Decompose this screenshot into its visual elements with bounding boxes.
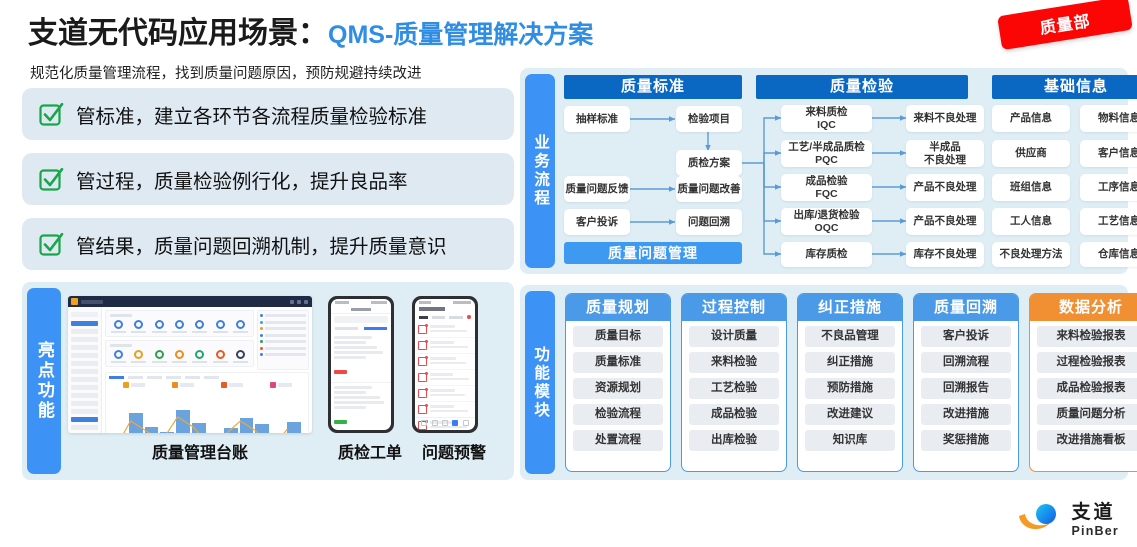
- module-item[interactable]: 质量问题分析: [1037, 404, 1137, 425]
- basic-worker-info[interactable]: 工人信息: [992, 208, 1070, 235]
- mock-chart: [105, 372, 309, 433]
- handle-node-stock[interactable]: 库存不良处理: [906, 242, 984, 267]
- mock-titlebar: [68, 296, 312, 307]
- node-issue-trace[interactable]: 问题回溯: [676, 209, 742, 235]
- column-header-basic: 基础信息: [992, 75, 1137, 99]
- insp-node-stock-name: 库存质检: [806, 248, 848, 261]
- module-item[interactable]: 知识库: [805, 430, 895, 451]
- insp-node-oqc-name: 出库/退货检验: [794, 209, 860, 222]
- brand-logo: 支道 PinBer: [1017, 502, 1120, 539]
- basic-craft-info[interactable]: 工艺信息: [1080, 208, 1137, 235]
- module-item[interactable]: 来料检验: [689, 352, 779, 373]
- insp-node-oqc-code: OQC: [815, 222, 839, 235]
- module-item[interactable]: 客户投诉: [921, 326, 1011, 347]
- module-header-analytics: 数据分析: [1030, 294, 1137, 321]
- basic-team-info[interactable]: 班组信息: [992, 174, 1070, 201]
- module-column-traceback: 质量回溯 客户投诉 回溯流程 回溯报告 改进措施 奖惩措施: [913, 293, 1019, 472]
- phone-mockup-worksheet: [328, 296, 394, 433]
- modules-side-label-text: 功能模块: [532, 346, 548, 420]
- showcase-side-label: 亮点功能: [27, 288, 61, 474]
- dashboard-mockup: [68, 296, 312, 433]
- module-item[interactable]: 成品检验: [689, 404, 779, 425]
- insp-node-oqc[interactable]: 出库/退货检验 OQC: [781, 208, 872, 235]
- handle-node-fqc[interactable]: 产品不良处理: [906, 174, 984, 201]
- list-item: 管标准，建立各环节各流程质量检验标准: [22, 88, 514, 140]
- basic-process-info[interactable]: 工序信息: [1080, 174, 1137, 201]
- phone-mockup-alerts: [412, 296, 478, 433]
- module-column-planning: 质量规划 质量目标 质量标准 资源规划 检验流程 处置流程: [565, 293, 671, 472]
- handle-node-pqc-l2: 不良处理: [924, 154, 966, 167]
- status-badge: 质量部: [997, 0, 1133, 50]
- check-square-icon: [38, 231, 64, 257]
- module-item[interactable]: 来料检验报表: [1037, 326, 1137, 347]
- basic-supplier[interactable]: 供应商: [992, 140, 1070, 167]
- logo-en: PinBer: [1072, 525, 1120, 538]
- module-item[interactable]: 出库检验: [689, 430, 779, 451]
- mock-bar-chart: [109, 391, 305, 433]
- business-flow-panel: 业务流程 质量标准: [520, 68, 1128, 274]
- node-quality-feedback[interactable]: 质量问题反馈: [564, 176, 630, 202]
- list-item-label: 管标准，建立各环节各流程质量检验标准: [76, 100, 427, 129]
- list-item: 管过程，质量检验例行化，提升良品率: [22, 153, 514, 205]
- check-square-icon: [38, 166, 64, 192]
- handle-node-pqc-l1: 半成品: [929, 141, 961, 154]
- basic-defect-method[interactable]: 不良处理方法: [992, 242, 1070, 267]
- handle-node-pqc[interactable]: 半成品 不良处理: [906, 140, 984, 167]
- insp-node-iqc-name: 来料质检: [806, 106, 848, 119]
- insp-node-fqc-name: 成品检验: [806, 175, 848, 188]
- flow-footer-bar: 质量问题管理: [564, 242, 742, 264]
- title-main: 支道无代码应用场景：: [28, 17, 328, 50]
- module-item[interactable]: 检验流程: [573, 404, 663, 425]
- basic-customer-info[interactable]: 客户信息: [1080, 140, 1137, 167]
- module-item[interactable]: 改进措施看板: [1037, 430, 1137, 451]
- showcase-side-label-text: 亮点功能: [35, 341, 53, 421]
- module-item[interactable]: 处置流程: [573, 430, 663, 451]
- module-header-traceback: 质量回溯: [914, 294, 1018, 321]
- module-item[interactable]: 质量标准: [573, 352, 663, 373]
- node-quality-improve[interactable]: 质量问题改善: [676, 176, 742, 202]
- module-item[interactable]: 纠正措施: [805, 352, 895, 373]
- module-item[interactable]: 回溯流程: [921, 352, 1011, 373]
- insp-node-fqc[interactable]: 成品检验 FQC: [781, 174, 872, 201]
- module-item[interactable]: 设计质量: [689, 326, 779, 347]
- module-item[interactable]: 预防措施: [805, 378, 895, 399]
- module-item[interactable]: 工艺检验: [689, 378, 779, 399]
- caption-phone2: 问题预警: [422, 439, 486, 463]
- title-accent: QMS-质量管理解决方案: [328, 21, 593, 49]
- module-item[interactable]: 质量目标: [573, 326, 663, 347]
- slide-root: 支道无代码应用场景：QMS-质量管理解决方案 规范化质量管理流程，找到质量问题原…: [0, 0, 1137, 547]
- list-item-label: 管过程，质量检验例行化，提升良品率: [76, 165, 408, 194]
- mock-sidebar: [68, 307, 102, 433]
- check-square-icon: [38, 101, 64, 127]
- basic-product-info[interactable]: 产品信息: [992, 105, 1070, 132]
- handle-node-oqc[interactable]: 产品不良处理: [906, 208, 984, 235]
- column-header-inspection: 质量检验: [756, 75, 968, 99]
- modules-side-label: 功能模块: [525, 291, 555, 474]
- module-column-process: 过程控制 设计质量 来料检验 工艺检验 成品检验 出库检验: [681, 293, 787, 472]
- benefit-list: 管标准，建立各环节各流程质量检验标准 管过程，质量检验例行化，提升良品率 管结果…: [22, 88, 514, 283]
- module-column-analytics: 数据分析 来料检验报表 过程检验报表 成品检验报表 质量问题分析 改进措施看板: [1029, 293, 1137, 472]
- basic-warehouse-info[interactable]: 仓库信息: [1080, 242, 1137, 267]
- subtitle: 规范化质量管理流程，找到质量问题原因，预防规避持续改进: [30, 62, 422, 83]
- node-customer-complaint[interactable]: 客户投诉: [564, 209, 630, 235]
- badge-label: 质量部: [1038, 7, 1092, 39]
- module-item[interactable]: 回溯报告: [921, 378, 1011, 399]
- module-item[interactable]: 奖惩措施: [921, 430, 1011, 451]
- node-inspection-items[interactable]: 检验项目: [676, 106, 742, 132]
- node-inspection-plan[interactable]: 质检方案: [676, 150, 742, 176]
- caption-dashboard: 质量管理台账: [152, 439, 248, 463]
- page-title: 支道无代码应用场景：QMS-质量管理解决方案: [28, 8, 593, 52]
- module-header-corrective: 纠正措施: [798, 294, 902, 321]
- module-item[interactable]: 过程检验报表: [1037, 352, 1137, 373]
- module-header-process: 过程控制: [682, 294, 786, 321]
- insp-node-pqc[interactable]: 工艺/半成品质检 PQC: [781, 140, 872, 167]
- module-item[interactable]: 资源规划: [573, 378, 663, 399]
- caption-phone1: 质检工单: [338, 439, 402, 463]
- handle-node-iqc[interactable]: 来料不良处理: [906, 105, 984, 132]
- basic-material-info[interactable]: 物料信息: [1080, 105, 1137, 132]
- insp-node-pqc-code: PQC: [815, 154, 838, 167]
- insp-node-stock[interactable]: 库存质检: [781, 242, 872, 267]
- logo-text: 支道 PinBer: [1072, 503, 1120, 538]
- modules-panel: 功能模块 质量规划 质量目标 质量标准 资源规划 检验流程 处置流程 过程控制 …: [520, 285, 1128, 480]
- logo-cn: 支道: [1072, 503, 1120, 522]
- showcase-panel: 亮点功能: [22, 282, 514, 480]
- module-column-corrective: 纠正措施 不良品管理 纠正措施 预防措施 改进建议 知识库: [797, 293, 903, 472]
- module-item[interactable]: 成品检验报表: [1037, 378, 1137, 399]
- module-item[interactable]: 不良品管理: [805, 326, 895, 347]
- list-item: 管结果，质量问题回溯机制，提升质量意识: [22, 218, 514, 270]
- insp-node-iqc[interactable]: 来料质检 IQC: [781, 105, 872, 132]
- insp-node-fqc-code: FQC: [815, 188, 837, 201]
- module-header-planning: 质量规划: [566, 294, 670, 321]
- list-item-label: 管结果，质量问题回溯机制，提升质量意识: [76, 230, 447, 259]
- mock-list-panel: [257, 310, 309, 370]
- module-item[interactable]: 改进措施: [921, 404, 1011, 425]
- column-header-standard: 质量标准: [564, 75, 742, 99]
- node-sampling[interactable]: 抽样标准: [564, 106, 630, 132]
- insp-node-pqc-name: 工艺/半成品质检: [788, 141, 864, 154]
- module-item[interactable]: 改进建议: [805, 404, 895, 425]
- logo-mark-icon: [1017, 502, 1063, 539]
- insp-node-iqc-code: IQC: [817, 119, 836, 132]
